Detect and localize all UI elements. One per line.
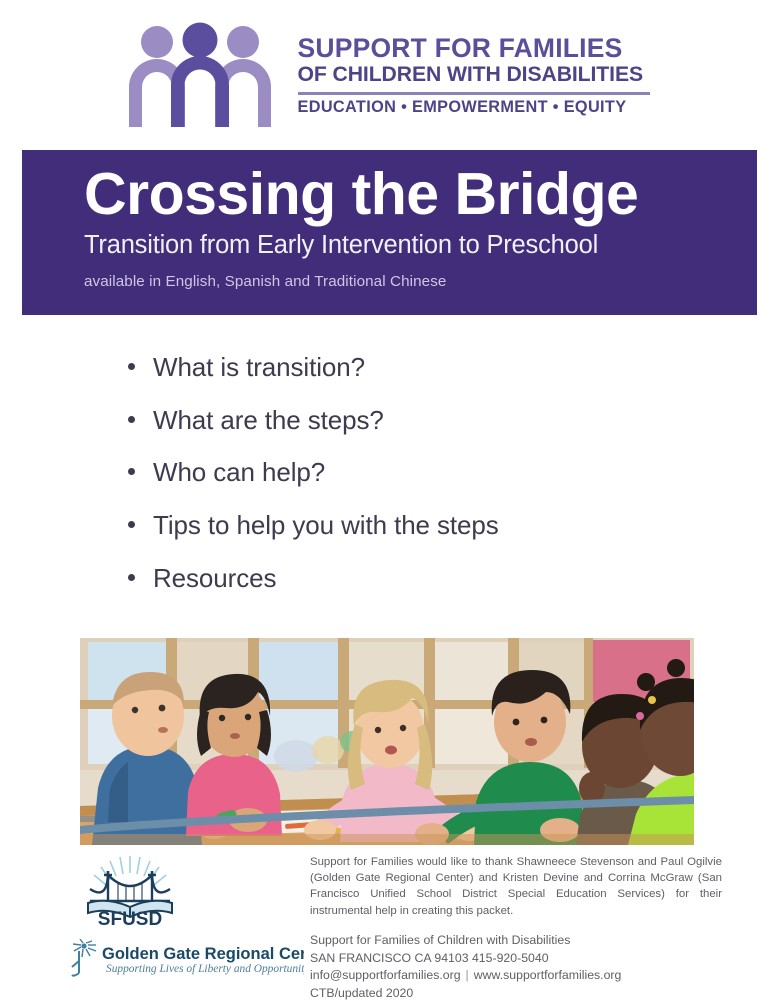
svg-text:Golden Gate Regional Center: Golden Gate Regional Center [102,945,304,963]
topic-label: What are the steps? [153,405,384,436]
bullet-icon [128,416,135,423]
separator: | [461,968,474,982]
list-item: Resources [128,563,688,594]
contact-org: Support for Families of Children with Di… [310,932,722,950]
contact-address: SAN FRANCISCO CA 94103 415-920-5040 [310,950,722,968]
page-title: Crossing the Bridge [84,164,757,224]
organization-name: SUPPORT FOR FAMILIES OF CHILDREN WITH DI… [298,31,650,116]
website-link[interactable]: www.supportforfamilies.org [474,968,622,982]
topic-label: What is transition? [153,352,365,383]
footer-logos: SFUSD Golden Gate Regional Center Suppor… [66,853,306,984]
availability-note: available in English, Spanish and Tradit… [84,273,757,291]
classroom-children-photo [80,638,694,845]
list-item: Tips to help you with the steps [128,510,688,541]
org-name-line1: SUPPORT FOR FAMILIES [298,35,650,63]
bullet-icon [128,468,135,475]
masthead: SUPPORT FOR FAMILIES OF CHILDREN WITH DI… [0,0,773,148]
bullet-icon [128,574,135,581]
footer-text: Support for Families would like to thank… [310,854,722,1003]
page-subtitle: Transition from Early Intervention to Pr… [84,230,757,261]
list-item: Who can help? [128,457,688,488]
topic-label: Tips to help you with the steps [153,510,499,541]
list-item: What is transition? [128,352,688,383]
revision-label: CTB/updated 2020 [310,985,722,1003]
ggrc-logo: Golden Gate Regional Center Supporting L… [66,939,304,984]
svg-text:Supporting Lives of Liberty an: Supporting Lives of Liberty and Opportun… [106,963,304,975]
list-item: What are the steps? [128,405,688,436]
footer: SFUSD Golden Gate Regional Center Suppor… [0,850,773,1000]
contact-links: info@supportforfamilies.org|www.supportf… [310,967,722,985]
org-tagline: EDUCATION • EMPOWERMENT • EQUITY [298,99,650,117]
org-name-line2: OF CHILDREN WITH DISABILITIES [298,63,650,87]
contact-block: Support for Families of Children with Di… [310,932,722,1003]
sfusd-logo: SFUSD [80,853,180,930]
topic-list: What is transition? What are the steps? … [128,352,688,615]
topic-label: Who can help? [153,457,325,488]
topic-label: Resources [153,563,276,594]
email-link[interactable]: info@supportforfamilies.org [310,968,461,982]
acknowledgement-text: Support for Families would like to thank… [310,854,722,919]
title-banner: Crossing the Bridge Transition from Earl… [22,150,757,315]
three-people-icon [124,21,276,127]
logo-divider [298,92,650,95]
svg-text:SFUSD: SFUSD [98,909,162,925]
bullet-icon [128,521,135,528]
bullet-icon [128,363,135,370]
